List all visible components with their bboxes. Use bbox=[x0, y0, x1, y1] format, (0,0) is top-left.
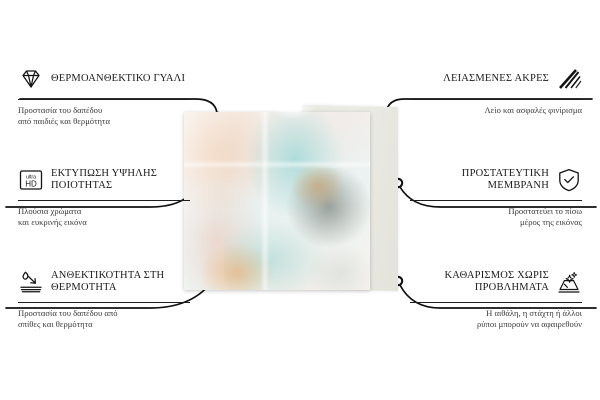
feature-description: Προστασία του δαπέδουαπό παιδιές και θερ… bbox=[18, 105, 190, 127]
divider bbox=[410, 99, 582, 100]
flame-shield-icon bbox=[18, 269, 44, 295]
feature-easy-cleaning: ΚΑΘΑΡΙΣΜΟΣ ΧΩΡΙΣ ΠΡΟΒΛΗΜΑΤΑ Η αιθάλη, η … bbox=[410, 265, 582, 330]
feature-description: Προστατεύει το πίσωμέρος της εικόνας bbox=[410, 206, 582, 228]
feature-title: ΚΑΘΑΡΙΣΜΟΣ ΧΩΡΙΣ ΠΡΟΒΛΗΜΑΤΑ bbox=[410, 270, 549, 295]
divider bbox=[18, 302, 190, 303]
infographic-stage: ΘΕΡΜΟΑΝΘΕΚΤΙΚΟ ΓΥΑΛΙ Προστασία του δαπέδ… bbox=[0, 0, 600, 400]
feature-title: ΠΡΟΣΤΑΤΕΥΤΙΚΗ ΜΕΜΒΡΑΝΗ bbox=[410, 168, 549, 193]
feature-polished-edges: ΛΕΙΑΣΜΕΝΕΣ ΑΚΡΕΣ Λείο και ασφαλές φινίρι… bbox=[410, 62, 582, 116]
feature-description: Η αιθάλη, η στάχτη ή άλλοιρύποι μπορούν … bbox=[410, 308, 582, 330]
ultra-hd-icon: ultra HD bbox=[18, 167, 44, 193]
divider bbox=[410, 200, 582, 201]
feature-title: ΘΕΡΜΟΑΝΘΕΚΤΙΚΟ ΓΥΑΛΙ bbox=[51, 73, 185, 86]
feature-title: ΕΚΤΥΠΩΣΗ ΥΨΗΛΗΣ ΠΟΙΟΤΗΤΑΣ bbox=[51, 168, 190, 193]
feature-high-quality-print: ultra HD ΕΚΤΥΠΩΣΗ ΥΨΗΛΗΣ ΠΟΙΟΤΗΤΑΣ Πλούσ… bbox=[18, 163, 190, 228]
sparkle-wipe-icon bbox=[556, 269, 582, 295]
product-image bbox=[184, 108, 400, 290]
divider bbox=[18, 99, 190, 100]
feature-title: ΛΕΙΑΣΜΕΝΕΣ ΑΚΡΕΣ bbox=[443, 73, 549, 86]
product-glass-panel bbox=[184, 112, 370, 290]
svg-text:HD: HD bbox=[25, 179, 37, 188]
feature-title: ΑΝΘΕΚΤΙΚΟΤΗΤΑ ΣΤΗ ΘΕΡΜΟΤΗΤΑ bbox=[51, 270, 190, 295]
diamond-icon bbox=[18, 66, 44, 92]
shield-check-icon bbox=[556, 167, 582, 193]
divider bbox=[410, 302, 582, 303]
feature-heat-durability: ΑΝΘΕΚΤΙΚΟΤΗΤΑ ΣΤΗ ΘΕΡΜΟΤΗΤΑ Προστασία το… bbox=[18, 265, 190, 330]
feature-description: Πλούσια χρώματακαι ευκρινής εικόνα bbox=[18, 206, 190, 228]
feature-description: Προστασία του δαπέδου απόσπίθες και θερμ… bbox=[18, 308, 190, 330]
hatch-lines-icon bbox=[556, 66, 582, 92]
divider bbox=[18, 200, 190, 201]
feature-description: Λείο και ασφαλές φινίρισμα bbox=[410, 105, 582, 116]
feature-protective-membrane: ΠΡΟΣΤΑΤΕΥΤΙΚΗ ΜΕΜΒΡΑΝΗ Προστατεύει το πί… bbox=[410, 163, 582, 228]
marble-artwork bbox=[184, 112, 370, 290]
feature-heat-resistant-glass: ΘΕΡΜΟΑΝΘΕΚΤΙΚΟ ΓΥΑΛΙ Προστασία του δαπέδ… bbox=[18, 62, 190, 127]
